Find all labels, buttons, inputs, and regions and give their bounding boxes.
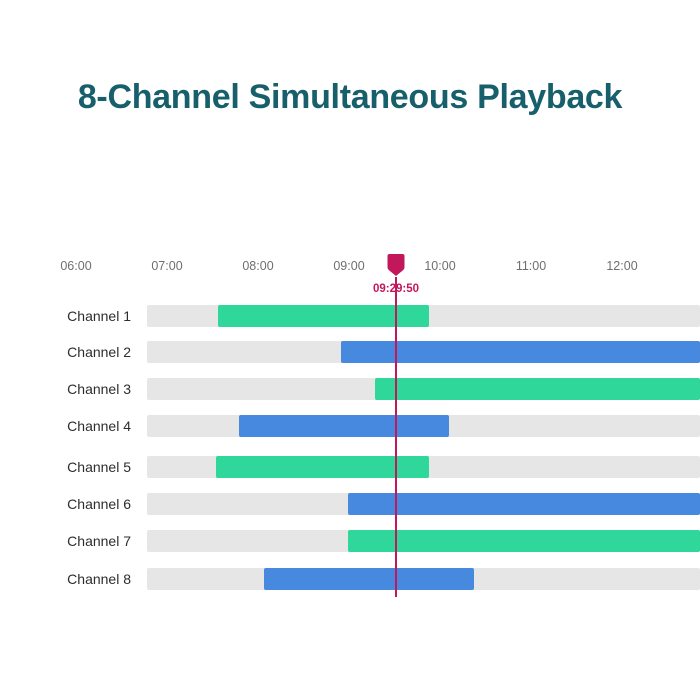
playback-timeline-page: 8-Channel Simultaneous Playback 06:0007:… — [0, 0, 700, 700]
time-tick-label: 09:00 — [333, 259, 364, 273]
recording-segment-bar[interactable] — [375, 378, 700, 400]
channel-label: Channel 8 — [67, 571, 131, 587]
channel-label: Channel 2 — [67, 344, 131, 360]
recording-segment-bar[interactable] — [264, 568, 474, 590]
channel-label-column: Channel 1Channel 2Channel 3Channel 4Chan… — [0, 0, 131, 700]
time-tick-label: 08:00 — [242, 259, 273, 273]
time-tick-label: 12:00 — [606, 259, 637, 273]
playhead-time-label: 09:29:50 — [373, 283, 419, 295]
time-tick-label: 10:00 — [424, 259, 455, 273]
playhead-pin-icon[interactable] — [388, 254, 405, 276]
channel-label: Channel 5 — [67, 459, 131, 475]
recording-segment-bar[interactable] — [216, 456, 429, 478]
channel-label: Channel 6 — [67, 496, 131, 512]
recording-segment-bar[interactable] — [218, 305, 429, 327]
timeline-chart: 06:0007:0008:0009:0010:0011:0012:00 Chan… — [0, 0, 700, 700]
recording-segment-bar[interactable] — [348, 530, 700, 552]
channel-label: Channel 3 — [67, 381, 131, 397]
time-tick-label: 11:00 — [516, 259, 546, 273]
playhead-line[interactable] — [395, 277, 397, 597]
channel-label: Channel 4 — [67, 418, 131, 434]
recording-segment-bar[interactable] — [348, 493, 700, 515]
recording-segment-bar[interactable] — [239, 415, 449, 437]
channel-label: Channel 1 — [67, 308, 131, 324]
channel-label: Channel 7 — [67, 533, 131, 549]
time-tick-label: 07:00 — [151, 259, 182, 273]
